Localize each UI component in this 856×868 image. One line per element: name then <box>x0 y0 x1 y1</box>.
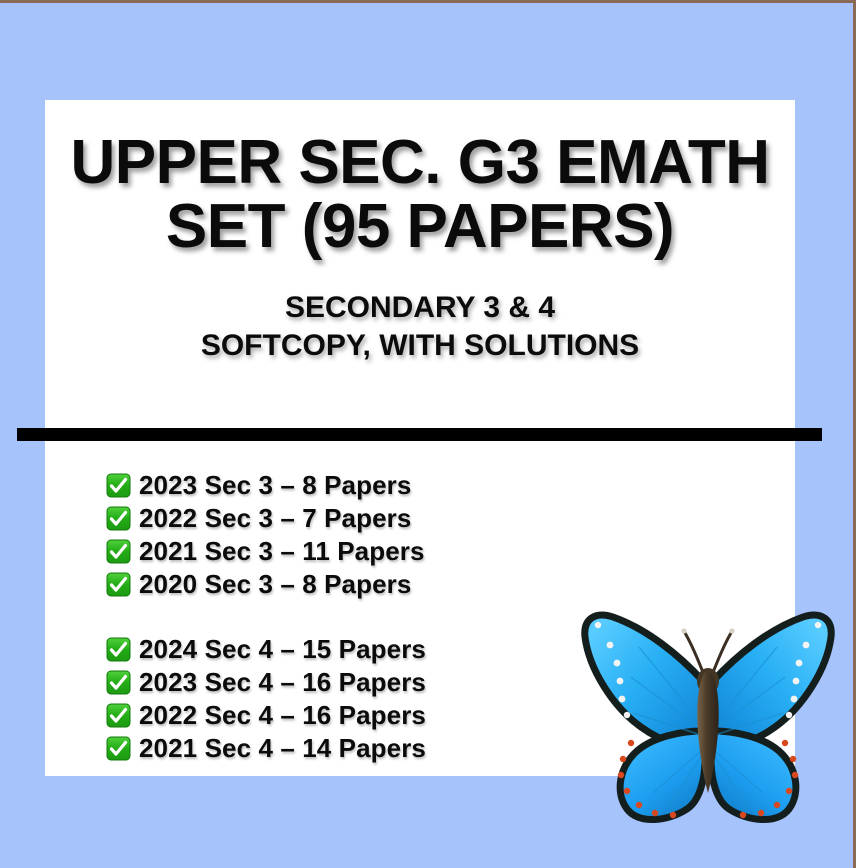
antenna-tip-left <box>681 628 686 633</box>
horizontal-divider <box>17 428 822 441</box>
list-item-label: 2021 Sec 3 – 11 Papers <box>139 536 425 567</box>
green-check-icon <box>106 539 131 564</box>
page-subtitle: SECONDARY 3 & 4SOFTCOPY, WITH SOLUTIONS <box>45 289 795 366</box>
title-block: UPPER SEC. G3 EMATHSET (95 PAPERS) SECON… <box>45 131 795 366</box>
green-check-icon <box>106 736 131 761</box>
green-check-icon <box>106 473 131 498</box>
list-item-label: 2022 Sec 3 – 7 Papers <box>139 503 411 534</box>
page-title-line-2: SET (95 PAPERS) <box>166 192 674 261</box>
page-title: UPPER SEC. G3 EMATHSET (95 PAPERS) <box>45 131 795 259</box>
page-title-line-1: UPPER SEC. G3 EMATH <box>70 128 769 197</box>
page-subtitle-line-2: SOFTCOPY, WITH SOLUTIONS <box>201 329 639 362</box>
page-subtitle-line-1: SECONDARY 3 & 4 <box>285 291 555 324</box>
green-check-icon <box>106 572 131 597</box>
green-check-icon <box>106 506 131 531</box>
poster-canvas: UPPER SEC. G3 EMATHSET (95 PAPERS) SECON… <box>0 0 856 868</box>
list-item-label: 2021 Sec 4 – 14 Papers <box>139 733 426 764</box>
list-item: 2021 Sec 3 – 11 Papers <box>106 535 666 568</box>
list-item-label: 2024 Sec 4 – 15 Papers <box>139 634 426 665</box>
green-check-icon <box>106 637 131 662</box>
list-item-label: 2023 Sec 3 – 8 Papers <box>139 470 411 501</box>
green-check-icon <box>106 703 131 728</box>
list-item-label: 2023 Sec 4 – 16 Papers <box>139 667 426 698</box>
list-item: 2022 Sec 3 – 7 Papers <box>106 502 666 535</box>
antenna-tip-right <box>729 628 734 633</box>
list-item-label: 2020 Sec 3 – 8 Papers <box>139 569 411 600</box>
green-check-icon <box>106 670 131 695</box>
list-item: 2020 Sec 3 – 8 Papers <box>106 568 666 601</box>
blue-morpho-butterfly-image <box>575 603 841 831</box>
list-item-label: 2022 Sec 4 – 16 Papers <box>139 700 426 731</box>
list-item: 2023 Sec 3 – 8 Papers <box>106 469 666 502</box>
paper-list-group-sec-3: 2023 Sec 3 – 8 Papers 2022 Sec 3 – 7 Pap… <box>106 469 666 601</box>
